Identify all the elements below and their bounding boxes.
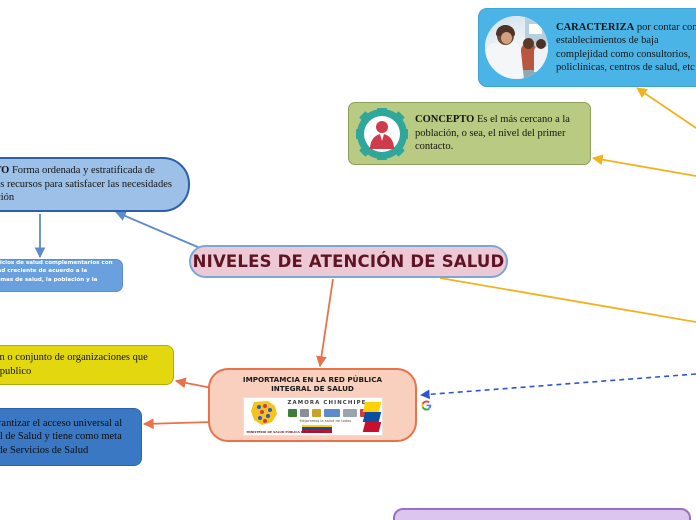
- edge-importancia-to-rpis: [176, 381, 212, 388]
- edge-central-to-concepto-green: [440, 278, 696, 322]
- node-niveles-sub[interactable]: Se caracteriza por servicios de salud co…: [0, 259, 123, 292]
- google-g-icon[interactable]: [421, 400, 432, 411]
- node-rpis[interactable]: RPIS Es la unión o conjunto de organizac…: [0, 345, 174, 385]
- ecuador-flag-skew: [364, 402, 380, 432]
- node-concepto-blue-text: CONCEPTO Forma ordenada y estratificada …: [0, 164, 178, 206]
- central-node[interactable]: NIVELES DE ATENCIÓN DE SALUD: [189, 245, 508, 278]
- banner-ministry: MINISTERIO DE SALUD PÚBLICA DEL ECUADOR: [247, 431, 325, 434]
- edge-importancia-to-objetivo: [144, 422, 212, 424]
- node-concepto-niveles[interactable]: CONCEPTO Forma ordenada y estratificada …: [0, 157, 190, 212]
- node-caracteriza-lead: CARACTERIZA: [556, 22, 634, 33]
- gear-person-icon: [356, 108, 408, 160]
- node-importancia-title: IMPORTAMCIA EN LA RED PÚBLICA INTEGRAL D…: [243, 375, 382, 394]
- mindmap-canvas: CARACTERIZA por contar con establecimien…: [0, 0, 696, 520]
- node-importancia-title-line1: IMPORTAMCIA EN LA RED PÚBLICA: [243, 375, 382, 384]
- edge-gold-segment-upper: [593, 158, 696, 176]
- node-concepto-blue-lead: CONCEPTO: [0, 165, 9, 176]
- edge-central-to-caracteriza: [637, 88, 696, 128]
- node-purple-partial[interactable]: [393, 508, 691, 520]
- central-node-label: NIVELES DE ATENCIÓN DE SALUD: [193, 252, 505, 271]
- node-concepto-green-text: CONCEPTO Es el más cercano a la població…: [415, 113, 583, 154]
- banner-logo-5: [343, 409, 357, 417]
- node-objetivo-detail: Garantizar el acceso universal al Sistem…: [0, 418, 122, 456]
- ecuador-map-icon: [248, 400, 282, 427]
- edge-central-to-importancia: [320, 279, 333, 366]
- node-concepto-primer-nivel[interactable]: CONCEPTO Es el más cercano a la població…: [348, 102, 591, 165]
- node-concepto-blue-detail: Forma ordenada y estratificada de organi…: [0, 165, 172, 204]
- node-importancia-rpis[interactable]: IMPORTAMCIA EN LA RED PÚBLICA INTEGRAL D…: [208, 368, 417, 442]
- edge-central-to-concepto-blue: [116, 212, 200, 248]
- node-caracteriza-text: CARACTERIZA por contar con establecimien…: [556, 21, 696, 75]
- clinic-photo-icon: [485, 16, 548, 79]
- edge-dashed-to-importancia: [421, 374, 696, 395]
- banner-subtitle: Mejoramos la salud de todos: [300, 419, 352, 423]
- banner-title: ZAMORA CHINCHIPE: [288, 400, 367, 406]
- node-niveles-sub-text: Se caracteriza por servicios de salud co…: [0, 259, 116, 291]
- banner-logo-row: [288, 409, 372, 417]
- banner-logo-1: [288, 409, 297, 417]
- banner-logo-3: [312, 409, 321, 417]
- node-importancia-title-line2: INTEGRAL DE SALUD: [271, 384, 354, 393]
- banner-logo-4: [324, 409, 340, 417]
- node-caracteriza[interactable]: CARACTERIZA por contar con establecimien…: [478, 8, 696, 87]
- node-concepto-green-lead: CONCEPTO: [415, 114, 474, 125]
- banner-logo-2: [300, 409, 309, 417]
- node-objetivo-text: OBJETIVO Garantizar el acceso universal …: [0, 417, 133, 458]
- node-rpis-detail: Es la unión o conjunto de organizaciones…: [0, 352, 148, 377]
- zamora-chinchipe-banner: ZAMORA CHINCHIPE Mejoramos la salud de t…: [243, 397, 383, 436]
- node-objetivo[interactable]: OBJETIVO Garantizar el acceso universal …: [0, 408, 142, 466]
- node-rpis-text: RPIS Es la unión o conjunto de organizac…: [0, 351, 165, 378]
